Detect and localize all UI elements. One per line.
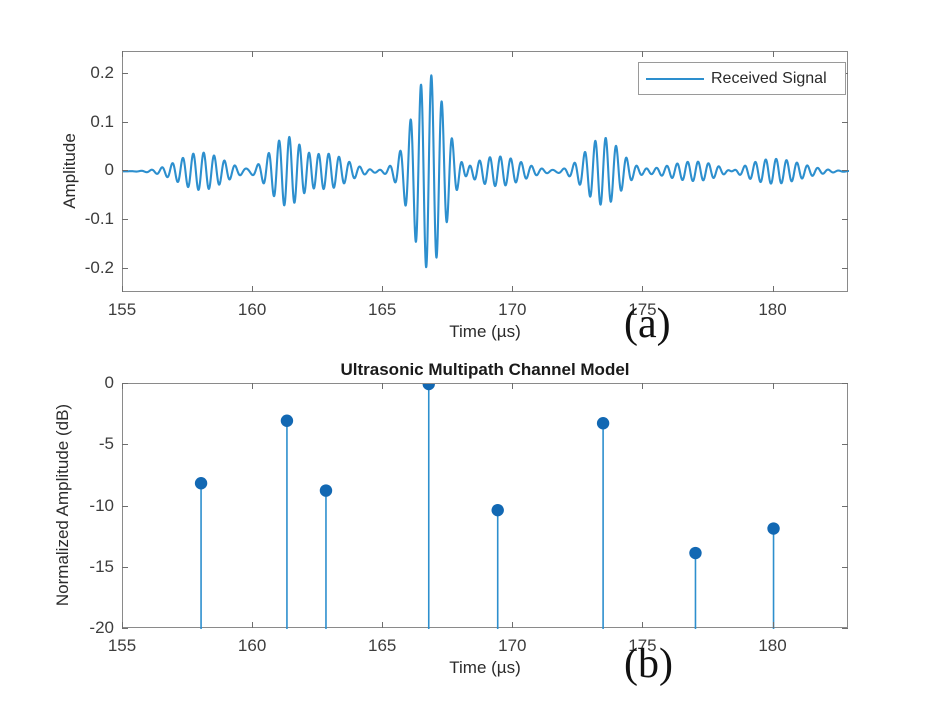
x-tick-label: 155 [108,300,136,320]
y-tick-label: -20 [60,618,114,638]
axis-label-y-a: Amplitude [60,133,80,209]
figure-container: 1551601651701751800.20.10-0.1-0.2 Time (… [0,0,940,714]
x-tick [642,286,643,292]
y-tick [122,383,128,384]
axis-label-x-a: Time (µs) [449,322,521,342]
x-tick-label: 165 [368,300,396,320]
y-tick [122,170,128,171]
y-tick-label: 0 [60,373,114,393]
x-tick-label: 180 [758,300,786,320]
y-tick [122,506,128,507]
y-tick [122,628,128,629]
axis-label-x-b: Time (µs) [449,658,521,678]
x-tick [382,51,383,57]
y-tick [122,122,128,123]
y-tick [122,268,128,269]
x-tick [252,286,253,292]
x-tick [773,51,774,57]
y-tick [122,219,128,220]
x-tick [773,622,774,628]
x-tick [122,51,123,57]
axes-b [122,383,848,628]
x-tick [512,383,513,389]
x-tick [512,286,513,292]
y-tick [842,122,848,123]
y-tick [842,628,848,629]
x-tick [512,51,513,57]
y-tick-label: -0.2 [60,258,114,278]
x-tick-label: 160 [238,636,266,656]
panel-letter-a: (a) [624,300,671,348]
y-tick-label: 0.2 [60,63,114,83]
x-tick [773,286,774,292]
x-tick [382,383,383,389]
x-tick [252,383,253,389]
axis-label-y-b: Normalized Amplitude (dB) [53,404,73,606]
x-tick-label: 160 [238,300,266,320]
multipath-stem-plot [123,384,849,629]
chart-title-b: Ultrasonic Multipath Channel Model [340,360,629,380]
y-tick [842,170,848,171]
x-tick-label: 155 [108,636,136,656]
y-tick [842,268,848,269]
legend-a[interactable]: Received Signal [638,62,846,95]
x-tick [642,383,643,389]
y-tick [122,73,128,74]
y-tick-label: -0.1 [60,209,114,229]
x-tick [252,51,253,57]
y-tick [842,219,848,220]
legend-line-received-signal [646,78,704,80]
y-tick [842,444,848,445]
x-tick-label: 170 [498,636,526,656]
x-tick-label: 165 [368,636,396,656]
x-tick [512,622,513,628]
y-tick [122,567,128,568]
y-tick [122,444,128,445]
x-tick [642,51,643,57]
x-tick [642,622,643,628]
y-tick-label: 0.1 [60,112,114,132]
y-tick [842,567,848,568]
x-tick [252,622,253,628]
x-tick [382,622,383,628]
x-tick-label: 180 [758,636,786,656]
x-tick [773,383,774,389]
x-tick [382,286,383,292]
panel-letter-b: (b) [624,640,673,688]
x-tick [122,286,123,292]
y-tick [842,506,848,507]
x-tick-label: 170 [498,300,526,320]
legend-label-received-signal: Received Signal [711,70,827,88]
y-tick [842,383,848,384]
